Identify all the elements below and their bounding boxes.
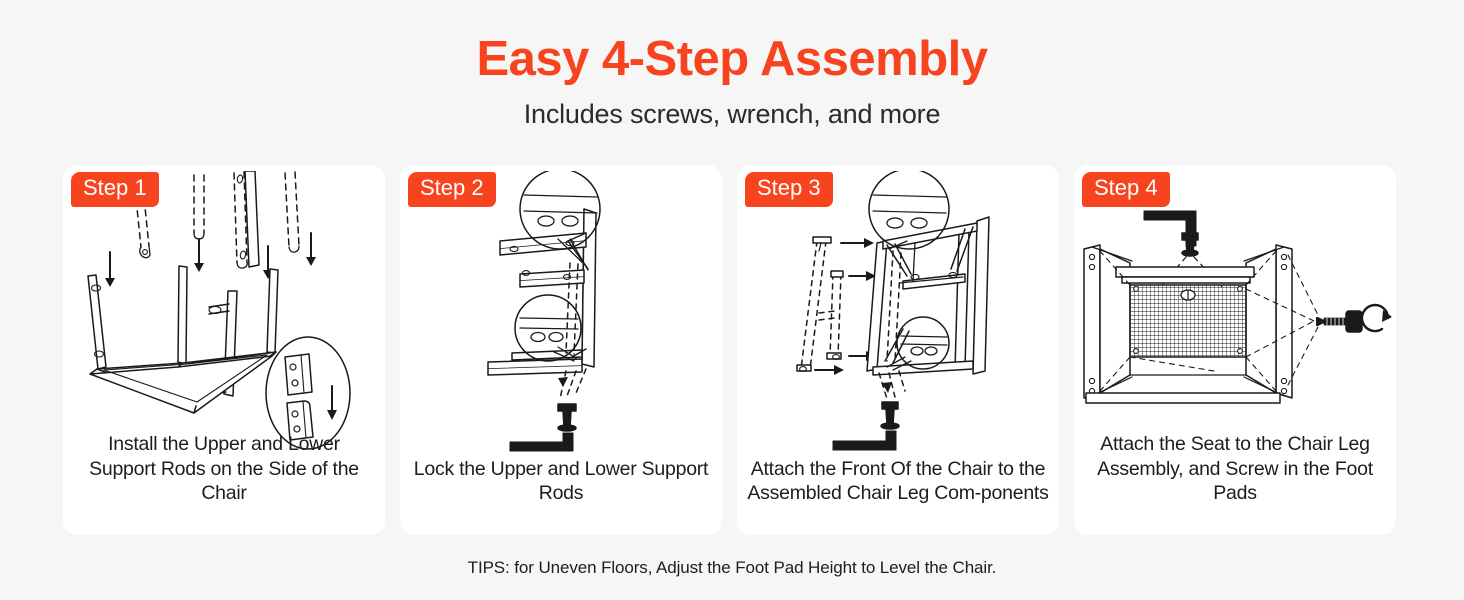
step-card-3[interactable]: Step 3 bbox=[737, 165, 1059, 535]
step-card-2[interactable]: Step 2 bbox=[400, 165, 722, 535]
step-caption-4: Attach the Seat to the Chair Leg Assembl… bbox=[1084, 432, 1386, 505]
step-caption-1: Install the Upper and Lower Support Rods… bbox=[73, 432, 375, 505]
step-caption-3: Attach the Front Of the Chair to the Ass… bbox=[747, 457, 1049, 505]
step-badge-2: Step 2 bbox=[408, 172, 496, 207]
tips-text: TIPS: for Uneven Floors, Adjust the Foot… bbox=[0, 558, 1464, 578]
page-title: Easy 4-Step Assembly bbox=[0, 34, 1464, 85]
step-badge-4: Step 4 bbox=[1082, 172, 1170, 207]
header: Easy 4-Step Assembly Includes screws, wr… bbox=[0, 0, 1464, 130]
step-illustration-3 bbox=[737, 171, 1059, 456]
step-card-1[interactable]: Step 1 bbox=[63, 165, 385, 535]
step-badge-3: Step 3 bbox=[745, 172, 833, 207]
step-illustration-1 bbox=[63, 171, 385, 456]
step-illustration-4 bbox=[1074, 171, 1396, 456]
assembly-instructions-page: Easy 4-Step Assembly Includes screws, wr… bbox=[0, 0, 1464, 600]
step-card-4[interactable]: Step 4 bbox=[1074, 165, 1396, 535]
step-illustration-2 bbox=[400, 171, 722, 456]
page-subtitle: Includes screws, wrench, and more bbox=[0, 99, 1464, 130]
step-badge-1: Step 1 bbox=[71, 172, 159, 207]
step-caption-2: Lock the Upper and Lower Support Rods bbox=[410, 457, 712, 505]
steps-container: Step 1 bbox=[63, 165, 1401, 535]
